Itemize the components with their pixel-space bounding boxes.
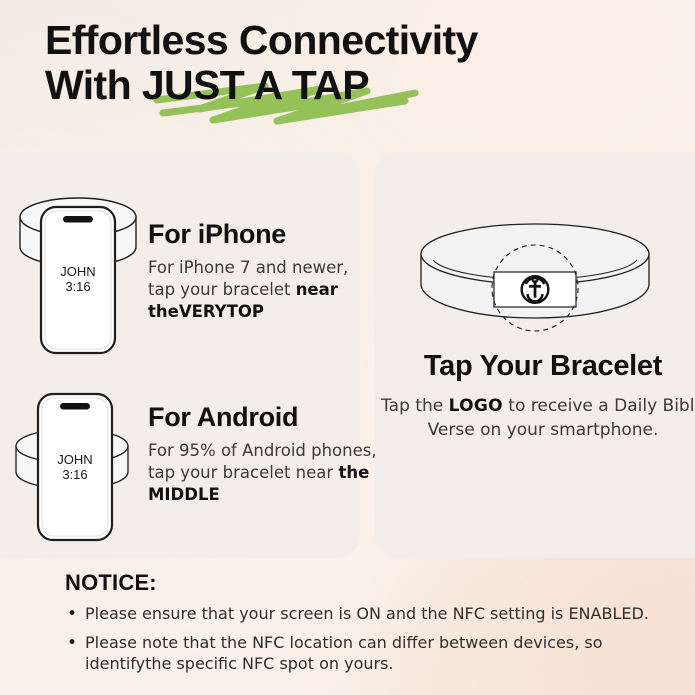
iphone-screen-line2: 3:16 (65, 279, 90, 294)
android-illustration: JOHN 3:16 (8, 388, 148, 553)
notice-title: NOTICE: (65, 570, 665, 596)
headline-highlight: JUST A TAP (142, 62, 369, 108)
headline-line-1: Effortless Connectivity (45, 18, 665, 63)
android-heading: For Android (148, 402, 380, 433)
iphone-heading: For iPhone (148, 219, 368, 250)
headline-line-2: With JUST A TAP (45, 63, 369, 108)
panel-iphone: For iPhone For iPhone 7 and newer, tap y… (148, 219, 368, 323)
logo-keyword: LOGO (449, 396, 503, 416)
android-body: For 95% of Android phones, tap your brac… (148, 440, 380, 506)
infographic-canvas: Effortless Connectivity With JUST A TAP (0, 0, 695, 695)
notice-item: Please ensure that your screen is ON and… (65, 604, 665, 625)
iphone-body: For iPhone 7 and newer, tap your bracele… (148, 257, 368, 323)
panel-tap-bracelet: Tap Your Bracelet Tap the LOGO to receiv… (380, 350, 695, 443)
tap-bracelet-body: Tap the LOGO to receive a Daily Bible Ve… (380, 395, 695, 443)
tap-bracelet-text-before: Tap the (381, 396, 449, 416)
headline-block: Effortless Connectivity With JUST A TAP (45, 18, 665, 107)
notice-item: Please note that the NFC location can di… (65, 633, 665, 675)
android-screen-line1: JOHN (57, 452, 92, 467)
headline-prefix: With (45, 62, 142, 108)
notice-list: Please ensure that your screen is ON and… (65, 604, 665, 674)
iphone-screen-line1: JOHN (60, 264, 95, 279)
tap-bracelet-heading: Tap Your Bracelet (380, 350, 695, 383)
android-screen-line2: 3:16 (62, 467, 87, 482)
notice-block: NOTICE: Please ensure that your screen i… (65, 570, 665, 674)
iphone-illustration: JOHN 3:16 (8, 185, 148, 365)
panel-android: For Android For 95% of Android phones, t… (148, 402, 380, 506)
bracelet-illustration (415, 222, 655, 347)
